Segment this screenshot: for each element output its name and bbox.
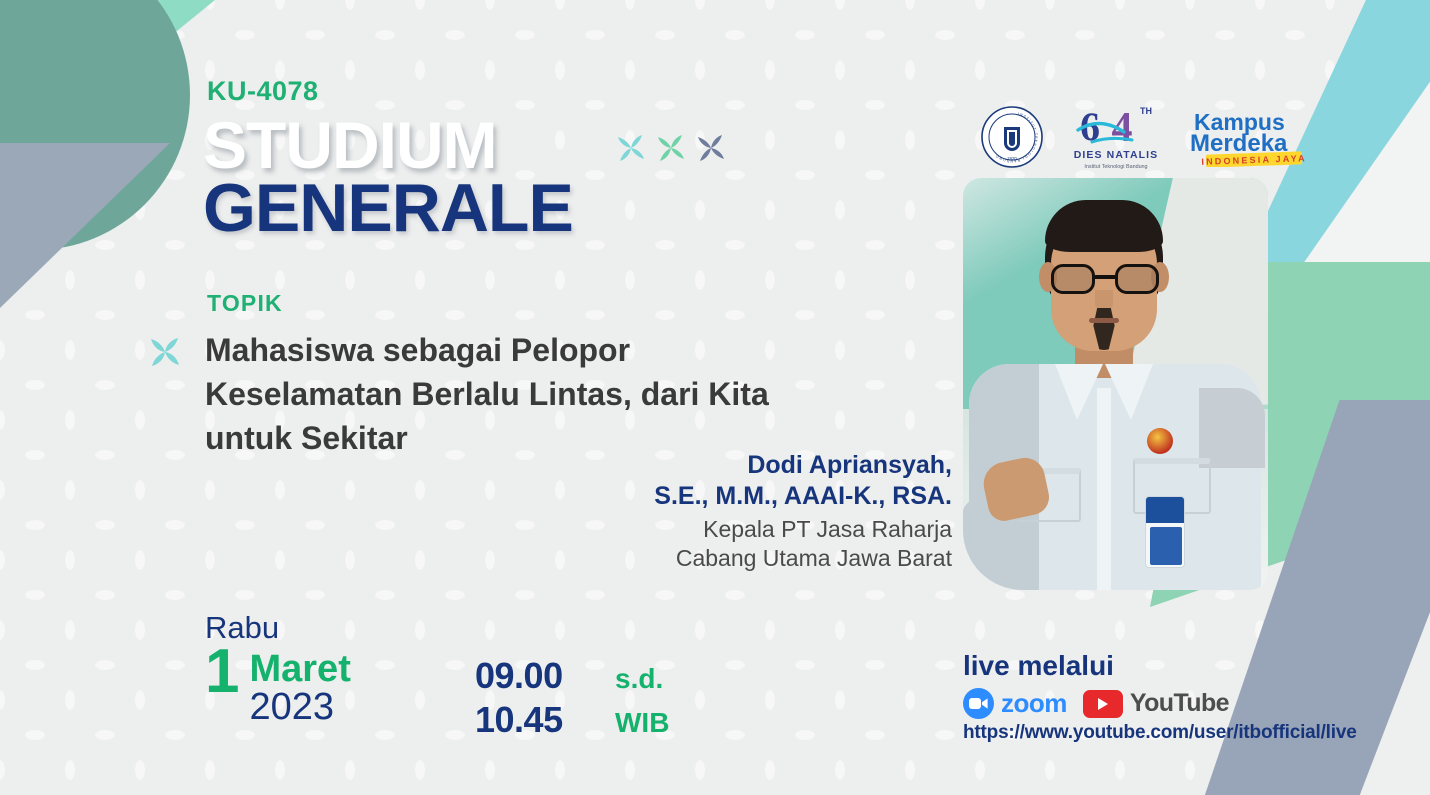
youtube-play-icon bbox=[1083, 690, 1123, 718]
zoom-logo[interactable]: zoom bbox=[963, 688, 1067, 719]
kampus-merdeka-icon: Kampus Merdeka INDONESIA JAYA bbox=[1188, 107, 1308, 167]
itb-logo: INSTITUT TEKNOLOGI BANDUNG 1920 bbox=[980, 105, 1044, 169]
speaker-name: Dodi Apriansyah, S.E., M.M., AAAI-K., RS… bbox=[392, 450, 952, 511]
live-heading: live melalui bbox=[963, 652, 1357, 680]
event-month: Maret bbox=[249, 650, 350, 688]
svg-text:1920: 1920 bbox=[1007, 156, 1017, 161]
speaker-role-line1: Kepala PT Jasa Raharja bbox=[392, 515, 952, 544]
itb-seal-icon: INSTITUT TEKNOLOGI BANDUNG 1920 bbox=[980, 105, 1044, 169]
eyeglasses bbox=[1051, 264, 1159, 294]
four-petal-motif-icon bbox=[612, 124, 730, 172]
page-title-line2: GENERALE bbox=[203, 174, 573, 242]
zoom-label: zoom bbox=[1001, 688, 1067, 719]
course-code: KU-4078 bbox=[207, 76, 319, 107]
poster-canvas: KU-4078 STUDIUM GENERALE bbox=[0, 0, 1430, 795]
video-camera-icon bbox=[969, 697, 988, 710]
id-card bbox=[1145, 496, 1185, 568]
dies-ordinal: TH bbox=[1140, 106, 1152, 116]
dies-natalis-64th-icon: 6 4 TH DIES NATALIS Institut Teknologi B… bbox=[1070, 100, 1162, 174]
topic-title: Mahasiswa sebagai Pelopor Keselamatan Be… bbox=[205, 328, 825, 460]
event-timezone: WIB bbox=[615, 706, 669, 740]
dies-caption: DIES NATALIS bbox=[1074, 149, 1159, 161]
event-time-end: 10.45 bbox=[475, 698, 615, 742]
event-year: 2023 bbox=[249, 688, 350, 728]
event-time: 09.00 s.d. 10.45 WIB bbox=[475, 654, 669, 742]
kampus-merdeka-logo: Kampus Merdeka INDONESIA JAYA bbox=[1188, 107, 1308, 167]
event-date: Rabu 1 Maret 2023 bbox=[205, 612, 351, 728]
topic-label: TOPIK bbox=[207, 290, 283, 317]
speaker-degrees-line: S.E., M.M., AAAI-K., RSA. bbox=[392, 481, 952, 512]
uniform-emblem bbox=[1147, 428, 1173, 454]
live-stream-section: live melalui zoom YouTube bbox=[963, 652, 1357, 744]
logo-strip: INSTITUT TEKNOLOGI BANDUNG 1920 6 4 TH D… bbox=[980, 100, 1308, 174]
speaker-role-line2: Cabang Utama Jawa Barat bbox=[392, 544, 952, 573]
event-time-separator: s.d. bbox=[615, 662, 663, 696]
four-petal-bullet-icon bbox=[146, 333, 184, 371]
page-title-line1: STUDIUM bbox=[203, 112, 497, 178]
play-triangle-icon bbox=[1097, 697, 1109, 711]
youtube-logo[interactable]: YouTube bbox=[1083, 689, 1229, 718]
live-stream-url[interactable]: https://www.youtube.com/user/itbofficial… bbox=[963, 722, 1357, 744]
event-date-number: 1 bbox=[205, 647, 238, 698]
dies-natalis-logo: 6 4 TH DIES NATALIS Institut Teknologi B… bbox=[1070, 100, 1162, 174]
youtube-label: YouTube bbox=[1130, 689, 1229, 718]
speaker-role: Kepala PT Jasa Raharja Cabang Utama Jawa… bbox=[392, 515, 952, 574]
decor-motif-group bbox=[612, 124, 730, 172]
speaker-photo bbox=[963, 178, 1268, 590]
event-time-start: 09.00 bbox=[475, 654, 615, 698]
topic-bullet-motif bbox=[146, 333, 184, 371]
dies-subcaption: Institut Teknologi Bandung bbox=[1084, 164, 1147, 170]
speaker-portrait bbox=[963, 178, 1268, 590]
speaker-name-line: Dodi Apriansyah, bbox=[392, 450, 952, 481]
zoom-camera-icon bbox=[963, 688, 994, 719]
